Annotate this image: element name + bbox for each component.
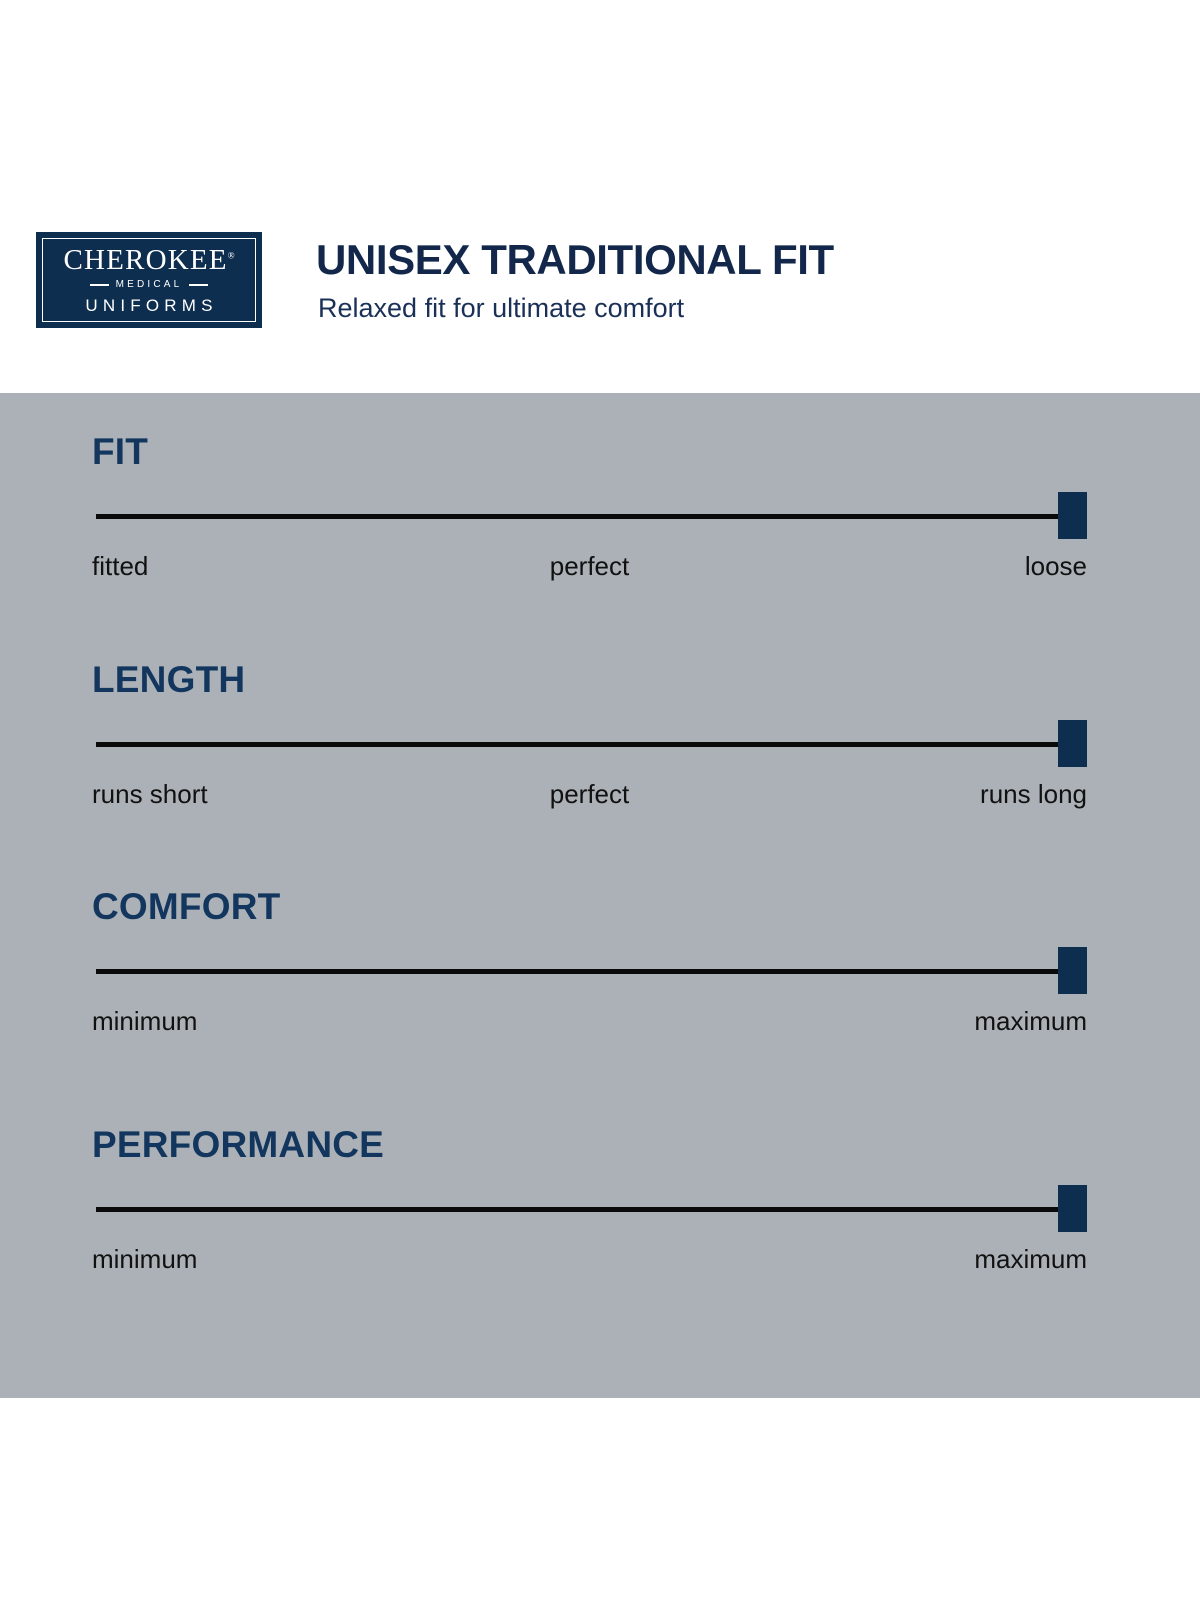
- scale-performance: PERFORMANCE minimum maximum: [92, 1126, 1087, 1278]
- logo-brand-text: CHEROKEE: [63, 244, 227, 276]
- scale-label-right-performance: maximum: [974, 1244, 1087, 1275]
- scale-comfort: COMFORT minimum maximum: [92, 888, 1087, 1040]
- header-title-block: UNISEX TRADITIONAL FIT Relaxed fit for u…: [316, 238, 834, 324]
- page-header: CHEROKEE® MEDICAL UNIFORMS UNISEX TRADIT…: [0, 0, 1200, 393]
- scale-labels-length: runs short perfect runs long: [92, 779, 1087, 813]
- scale-label-right-fit: loose: [1025, 551, 1087, 582]
- scale-track-comfort[interactable]: [92, 947, 1087, 995]
- scale-label-left-performance: minimum: [92, 1244, 197, 1275]
- scale-label-right-length: runs long: [980, 779, 1087, 810]
- scale-track-performance[interactable]: [92, 1185, 1087, 1233]
- scale-track-length[interactable]: [92, 720, 1087, 768]
- logo-rule-left-icon: [90, 284, 109, 286]
- scale-label-right-comfort: maximum: [974, 1006, 1087, 1037]
- track-marker-length[interactable]: [1058, 720, 1087, 767]
- scale-heading-length: LENGTH: [92, 661, 1087, 698]
- track-line-performance: [96, 1207, 1083, 1212]
- logo-inner-border: CHEROKEE® MEDICAL UNIFORMS: [42, 238, 256, 322]
- fit-scales-panel: FIT fitted perfect loose LENGTH runs sho…: [0, 393, 1200, 1398]
- track-line-length: [96, 742, 1083, 747]
- scale-heading-comfort: COMFORT: [92, 888, 1087, 925]
- cherokee-logo: CHEROKEE® MEDICAL UNIFORMS: [36, 232, 262, 328]
- track-marker-performance[interactable]: [1058, 1185, 1087, 1232]
- logo-middle-text: MEDICAL: [116, 280, 183, 290]
- scale-labels-performance: minimum maximum: [92, 1244, 1087, 1278]
- scale-label-center-length: perfect: [550, 779, 630, 810]
- track-line-comfort: [96, 969, 1083, 974]
- scale-fit: FIT fitted perfect loose: [92, 433, 1087, 585]
- registered-trademark-icon: ®: [228, 250, 235, 260]
- scale-label-left-fit: fitted: [92, 551, 148, 582]
- scale-label-center-fit: perfect: [550, 551, 630, 582]
- scale-labels-comfort: minimum maximum: [92, 1006, 1087, 1040]
- scale-label-left-comfort: minimum: [92, 1006, 197, 1037]
- track-marker-fit[interactable]: [1058, 492, 1087, 539]
- track-line-fit: [96, 514, 1083, 519]
- logo-rule-right-icon: [189, 284, 208, 286]
- footer-whitespace: [0, 1398, 1200, 1600]
- scale-heading-fit: FIT: [92, 433, 1087, 470]
- scale-length: LENGTH runs short perfect runs long: [92, 661, 1087, 813]
- scale-track-fit[interactable]: [92, 492, 1087, 540]
- scale-labels-fit: fitted perfect loose: [92, 551, 1087, 585]
- track-marker-comfort[interactable]: [1058, 947, 1087, 994]
- logo-middle-row: MEDICAL: [90, 280, 209, 290]
- logo-brand-name: CHEROKEE®: [63, 246, 234, 275]
- logo-bottom-text: UNIFORMS: [80, 297, 217, 314]
- page-title: UNISEX TRADITIONAL FIT: [316, 238, 834, 282]
- fit-guide-page: CHEROKEE® MEDICAL UNIFORMS UNISEX TRADIT…: [0, 0, 1200, 1600]
- scale-label-left-length: runs short: [92, 779, 208, 810]
- page-subtitle: Relaxed fit for ultimate comfort: [318, 292, 834, 324]
- scale-heading-performance: PERFORMANCE: [92, 1126, 1087, 1163]
